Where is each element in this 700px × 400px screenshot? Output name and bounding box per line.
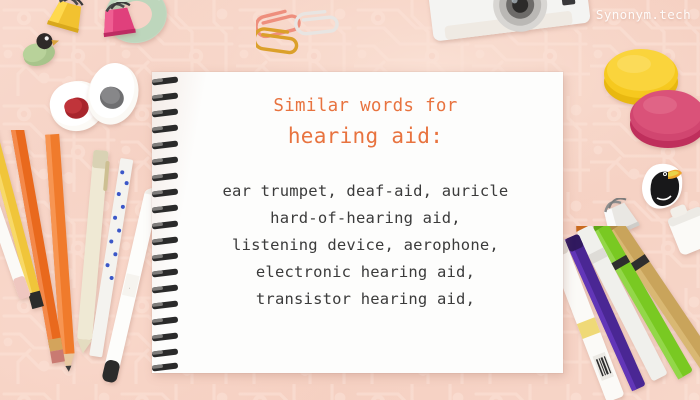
- page-content: Similar words for hearing aid: ear trump…: [152, 72, 563, 373]
- paper-clips-icon: [256, 8, 342, 56]
- page-title-line2: hearing aid:: [194, 124, 537, 148]
- macaron-pink-icon: [626, 80, 700, 150]
- binder-clip-pink-icon: [96, 2, 140, 40]
- markers-icon: [556, 226, 700, 400]
- site-watermark: Synonym.tech: [596, 7, 691, 22]
- binder-clip-yellow-icon: [44, 0, 88, 34]
- bird-eraser-icon: [18, 32, 62, 68]
- synonym-line: hard-of-hearing aid,: [194, 205, 537, 232]
- synonym-line: transistor hearing aid,: [194, 286, 537, 313]
- camera-icon: [424, 0, 596, 42]
- synonym-line: listening device, aerophone,: [194, 232, 537, 259]
- synonym-list: ear trumpet, deaf-aid, auricle hard-of-h…: [194, 178, 537, 313]
- synonym-line: ear trumpet, deaf-aid, auricle: [194, 178, 537, 205]
- egg-eraser-gray-icon: [82, 60, 144, 128]
- synonym-line: electronic hearing aid,: [194, 259, 537, 286]
- page-title-line1: Similar words for: [194, 96, 537, 116]
- screenshot-root: ·: [0, 0, 700, 400]
